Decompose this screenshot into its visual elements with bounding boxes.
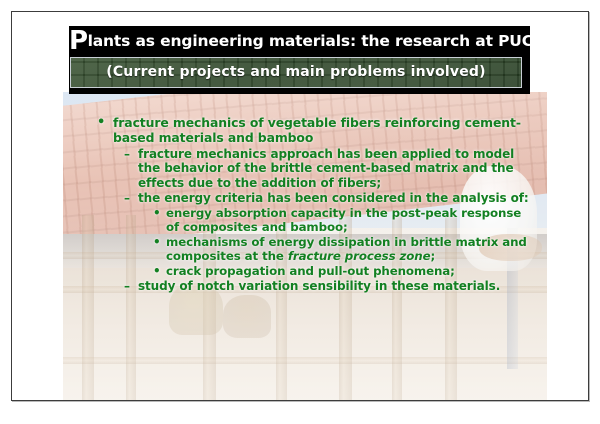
bullet-item: • mechanisms of energy dissipation in br… xyxy=(153,235,533,263)
bullet-text: fracture mechanics of vegetable fibers r… xyxy=(113,116,533,145)
subtitle-bar: (Current projects and main problems invo… xyxy=(70,57,522,88)
bullet-text: study of notch variation sensibility in … xyxy=(138,279,533,293)
title-drop-cap: P xyxy=(69,26,88,56)
page-title: Plants as engineering materials: the res… xyxy=(69,28,530,55)
bullet-marker-dash: – xyxy=(124,279,130,293)
bullet-item: • energy absorption capacity in the post… xyxy=(153,206,533,234)
bullet-marker-disc: • xyxy=(97,116,105,131)
bullet-text: mechanisms of energy dissipation in brit… xyxy=(166,235,533,263)
bullet-marker-disc: • xyxy=(153,264,161,278)
title-rest: lants as engineering materials: the rese… xyxy=(88,32,568,50)
bullet-item: – fracture mechanics approach has been a… xyxy=(124,147,533,190)
bullet-text: the energy criteria has been considered … xyxy=(138,191,533,205)
slide-frame: • fracture mechanics of vegetable fibers… xyxy=(11,11,589,401)
bullet-item: – study of notch variation sensibility i… xyxy=(124,279,533,293)
bullet-marker-dash: – xyxy=(124,191,130,205)
page-subtitle: (Current projects and main problems invo… xyxy=(71,58,521,87)
bullet-marker-disc: • xyxy=(153,235,161,249)
bullet-text: energy absorption capacity in the post-p… xyxy=(166,206,533,234)
bullet-marker-dash: – xyxy=(124,147,130,161)
bullet-text-italic: fracture process zone xyxy=(288,249,431,263)
title-block: Plants as engineering materials: the res… xyxy=(69,26,530,94)
bullet-text: fracture mechanics approach has been app… xyxy=(138,147,533,190)
bullet-item: • fracture mechanics of vegetable fibers… xyxy=(97,116,533,145)
slide-content-panel: • fracture mechanics of vegetable fibers… xyxy=(63,92,547,400)
bullet-item: – the energy criteria has been considere… xyxy=(124,191,533,205)
bullet-list: • fracture mechanics of vegetable fibers… xyxy=(63,92,547,400)
bullet-text-plain-tail: ; xyxy=(430,249,435,263)
bullet-item: • crack propagation and pull-out phenome… xyxy=(153,264,533,278)
bullet-marker-disc: • xyxy=(153,206,161,220)
bullet-text: crack propagation and pull-out phenomena… xyxy=(166,264,533,278)
